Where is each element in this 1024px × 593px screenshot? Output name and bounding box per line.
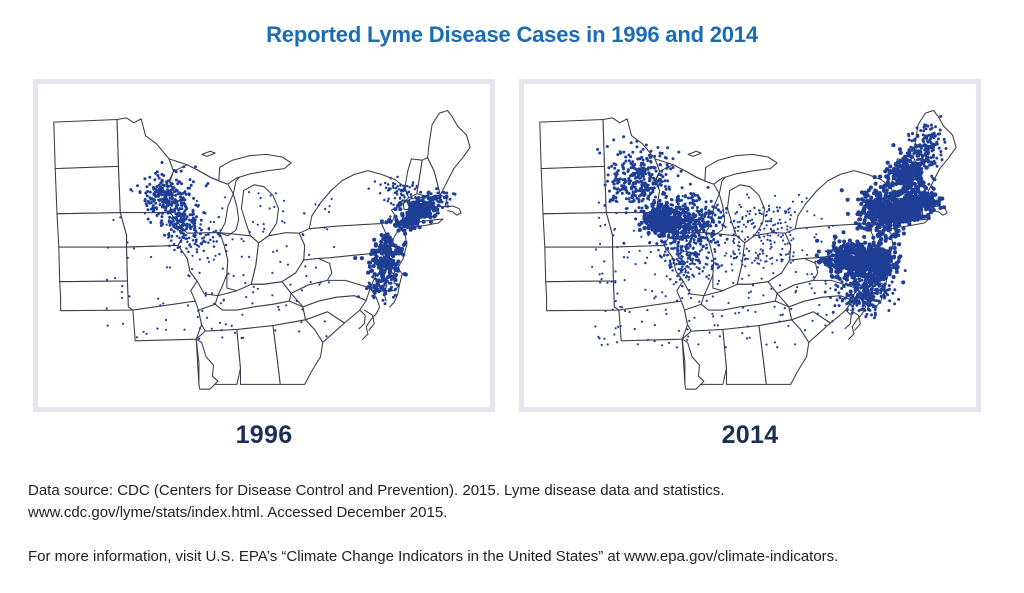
coastline-detail-1 xyxy=(688,151,701,156)
state-outline-ok xyxy=(546,281,619,311)
page-title: Reported Lyme Disease Cases in 1996 and … xyxy=(0,22,1024,48)
map-base-layer-1996 xyxy=(54,111,470,390)
state-outline-ne xyxy=(57,213,127,248)
map-svg-2014 xyxy=(524,84,976,407)
coastline-detail-1 xyxy=(202,151,215,156)
year-caption-2014: 2014 xyxy=(519,421,981,450)
more-information-line: For more information, visit U.S. EPA’s “… xyxy=(28,546,1003,568)
state-outline-sd xyxy=(541,166,606,213)
state-outline-sd xyxy=(55,166,120,213)
state-outline-mi_lp xyxy=(241,185,278,243)
map-base-layer-2014 xyxy=(540,111,956,390)
data-source-line-2: www.cdc.gov/lyme/stats/index.html. Acces… xyxy=(28,502,1003,524)
state-outline-mi_up xyxy=(705,154,777,184)
state-outline-ne xyxy=(543,213,613,248)
map-panel-1996[interactable] xyxy=(33,79,495,412)
coastline-detail-10 xyxy=(845,310,851,329)
coastline-detail-10 xyxy=(359,310,365,329)
state-outline-ks xyxy=(545,247,614,282)
footer: Data source: CDC (Centers for Disease Co… xyxy=(28,480,1003,568)
year-caption-1996: 1996 xyxy=(33,421,495,450)
map-svg-1996 xyxy=(38,84,490,407)
state-outline-ny xyxy=(309,171,408,229)
data-source-line-1: Data source: CDC (Centers for Disease Co… xyxy=(28,480,1003,502)
state-outline-ks xyxy=(59,247,128,282)
state-outline-mi_up xyxy=(219,154,291,184)
state-outline-nd xyxy=(54,120,119,169)
map-panel-2014[interactable] xyxy=(519,79,981,412)
state-outline-nd xyxy=(540,120,605,169)
